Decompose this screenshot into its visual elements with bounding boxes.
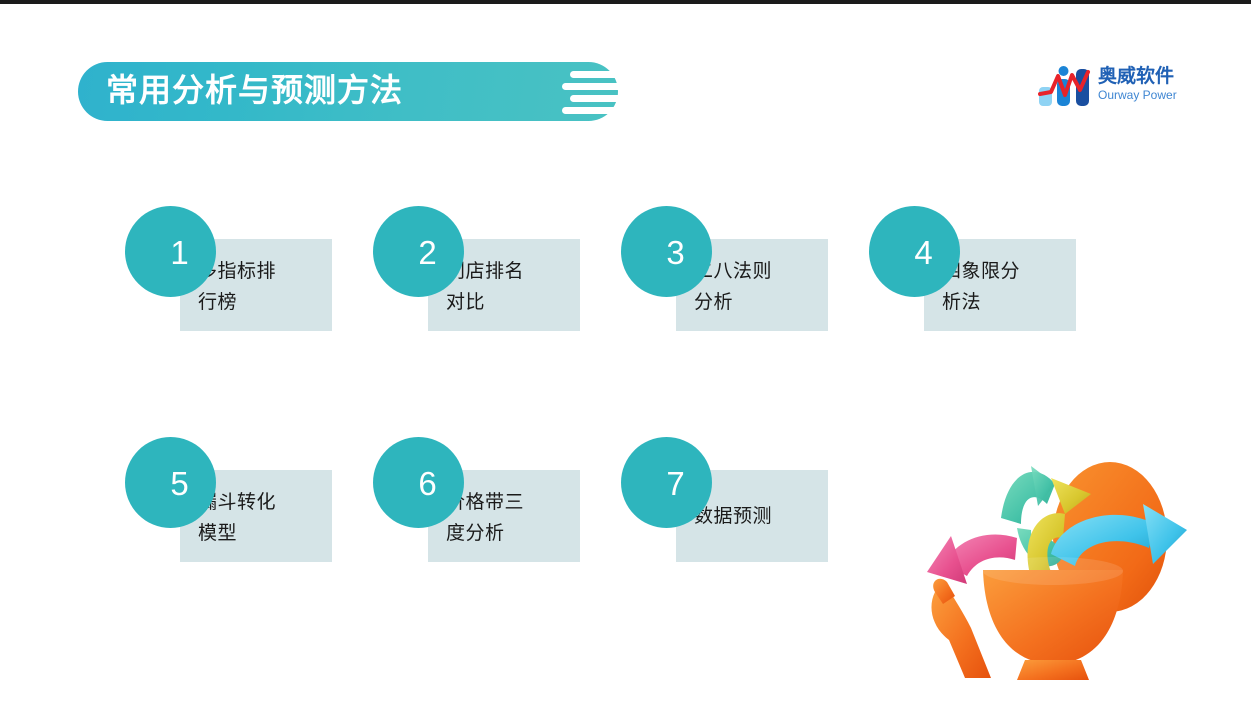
brand-logo: 奥威软件 Ourway Power	[1038, 64, 1208, 112]
method-item-6-number: 6	[373, 437, 464, 528]
method-item-4-label-line-2: 析法	[942, 287, 1062, 318]
logo-wordmark: 奥威软件 Ourway Power	[1098, 66, 1208, 102]
method-item-1[interactable]: 多指标排 行榜 1	[125, 206, 355, 326]
banner-notch-1	[570, 71, 622, 78]
method-item-4-label-line-1: 四象限分	[942, 256, 1062, 287]
method-item-4-label: 四象限分 析法	[942, 239, 1062, 333]
method-item-7-number: 7	[621, 437, 712, 528]
method-item-2-label: 门店排名 对比	[446, 239, 566, 333]
method-item-1-label-line-2: 行榜	[198, 287, 318, 318]
method-item-3-label: 二八法则 分析	[694, 239, 814, 333]
method-item-5[interactable]: 漏斗转化 模型 5	[125, 437, 355, 557]
method-item-2[interactable]: 门店排名 对比 2	[373, 206, 603, 326]
method-item-6-label-line-2: 度分析	[446, 518, 566, 549]
logo-chart-person-icon	[1038, 66, 1094, 108]
method-item-1-label: 多指标排 行榜	[198, 239, 318, 333]
slide-canvas: 常用分析与预测方法 奥威软件 Ourway Power 多指标排 行榜 1	[0, 0, 1251, 705]
method-item-6-label: 价格带三 度分析	[446, 470, 566, 564]
method-item-2-number: 2	[373, 206, 464, 297]
method-item-2-label-line-2: 对比	[446, 287, 566, 318]
open-head-arrows-illustration	[905, 432, 1215, 680]
method-item-7-label-line-1: 数据预测	[694, 501, 814, 532]
method-item-3-number: 3	[621, 206, 712, 297]
method-item-5-label: 漏斗转化 模型	[198, 470, 318, 564]
method-item-6-label-line-1: 价格带三	[446, 487, 566, 518]
banner-notch-3	[570, 95, 622, 102]
banner-notch-2	[562, 83, 622, 90]
page-title: 常用分析与预测方法	[106, 62, 403, 121]
method-item-3-label-line-1: 二八法则	[694, 256, 814, 287]
title-banner: 常用分析与预测方法	[78, 62, 618, 121]
method-item-2-label-line-1: 门店排名	[446, 256, 566, 287]
method-item-3[interactable]: 二八法则 分析 3	[621, 206, 851, 326]
method-item-5-label-line-2: 模型	[198, 518, 318, 549]
method-item-1-number: 1	[125, 206, 216, 297]
logo-name-cn: 奥威软件	[1098, 66, 1208, 88]
logo-name-en: Ourway Power	[1098, 88, 1208, 102]
slide-top-edge	[0, 0, 1251, 4]
method-item-3-label-line-2: 分析	[694, 287, 814, 318]
method-item-6[interactable]: 价格带三 度分析 6	[373, 437, 603, 557]
method-item-1-label-line-1: 多指标排	[198, 256, 318, 287]
method-item-7[interactable]: 数据预测 7	[621, 437, 851, 557]
banner-notch-4	[562, 107, 622, 114]
method-item-4-number: 4	[869, 206, 960, 297]
banner-right-mask	[622, 58, 702, 126]
method-item-5-number: 5	[125, 437, 216, 528]
method-item-7-label: 数据预测	[694, 470, 814, 562]
method-item-5-label-line-1: 漏斗转化	[198, 487, 318, 518]
method-item-4[interactable]: 四象限分 析法 4	[869, 206, 1099, 326]
